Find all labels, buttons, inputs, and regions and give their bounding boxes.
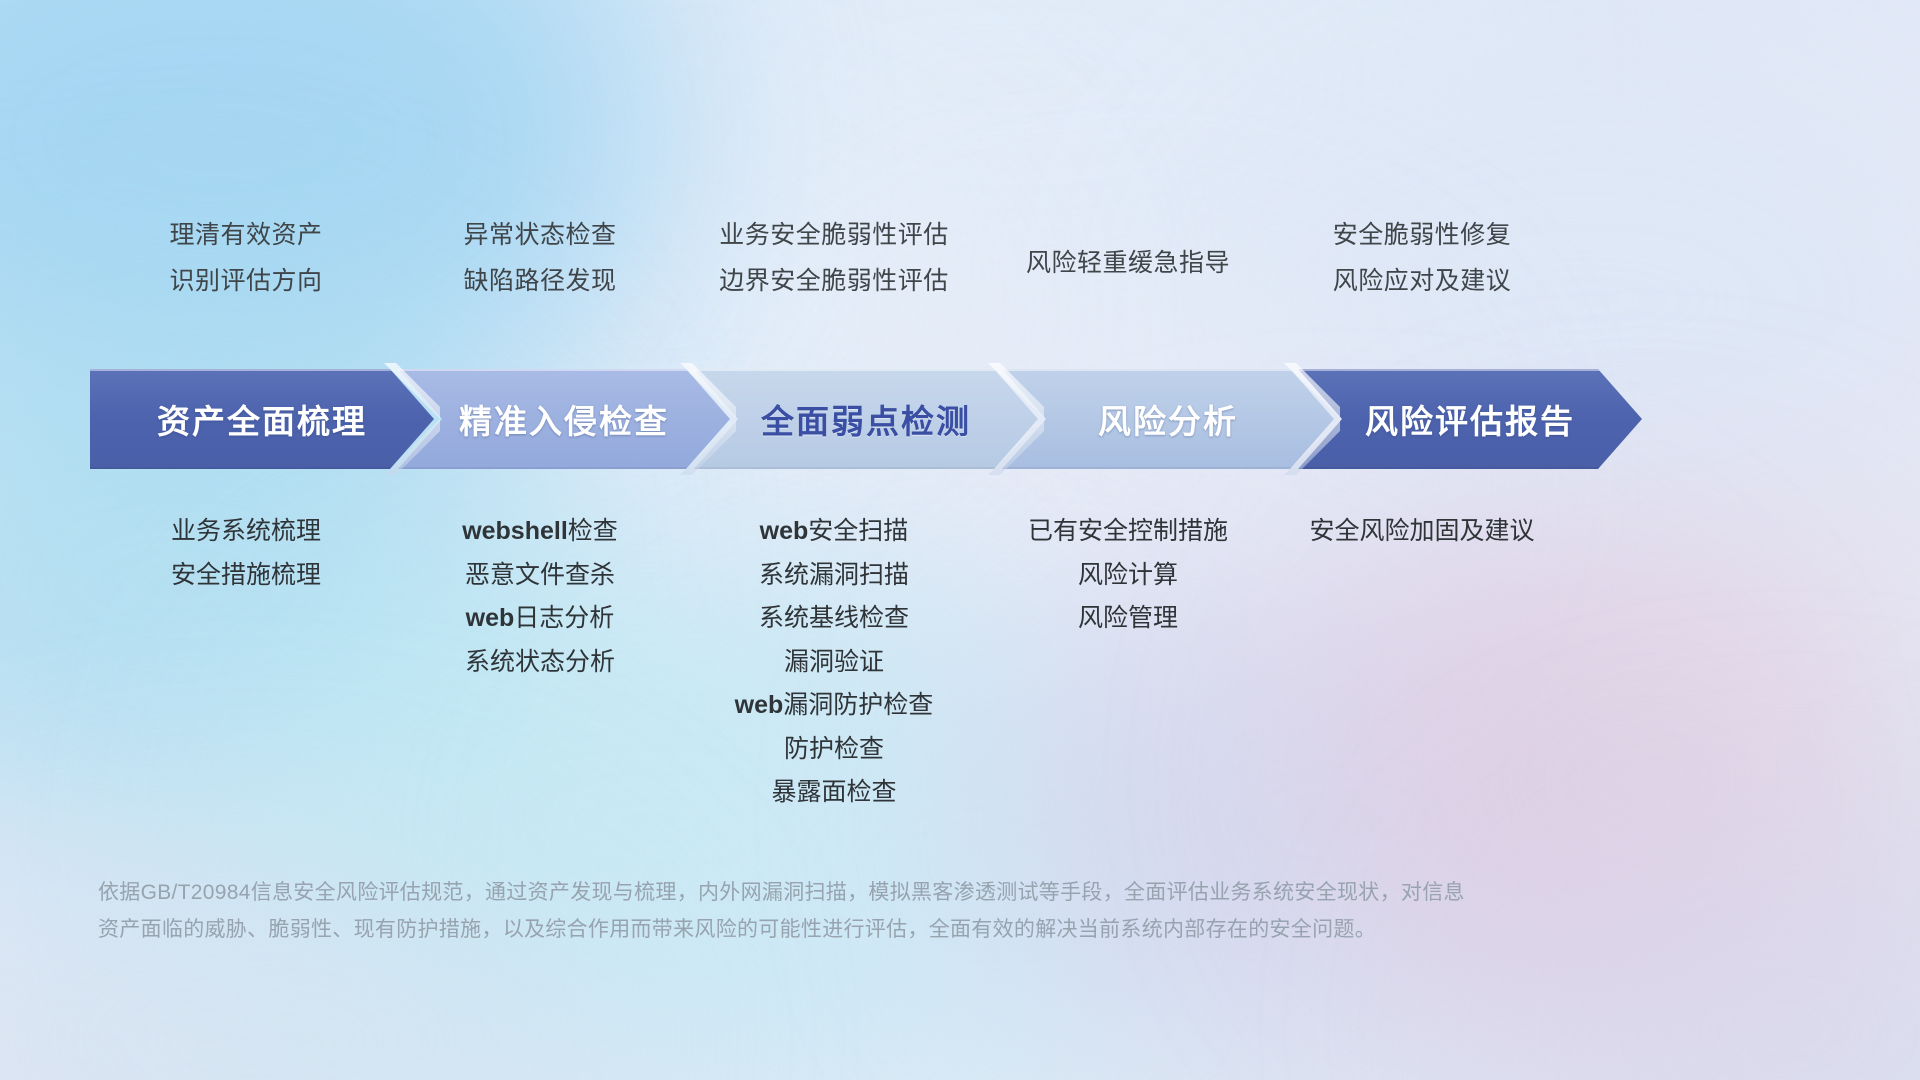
outcome-item: 异常状态检查 xyxy=(396,222,684,250)
tasks-row: 业务系统梳理安全措施梳理webshell检查恶意文件查杀web日志分析系统状态分… xyxy=(96,500,1856,807)
outcomes-col-intrusion-check: 异常状态检查缺陷路径发现 xyxy=(396,222,684,295)
footer-description: 依据GB/T20984信息安全风险评估规范，通过资产发现与梳理，内外网漏洞扫描，… xyxy=(98,875,1618,949)
outcomes-col-risk-analysis: 风险轻重缓急指导 xyxy=(984,222,1272,278)
chevron-title: 风险分析 xyxy=(1098,395,1238,443)
outcome-item: 识别评估方向 xyxy=(96,268,396,296)
task-item: web日志分析 xyxy=(396,605,684,633)
task-item: 暴露面检查 xyxy=(684,779,984,807)
chevron-risk-analysis[interactable]: 风险分析 xyxy=(1002,369,1334,469)
outcome-item: 理清有效资产 xyxy=(96,222,396,250)
outcomes-row: 理清有效资产识别评估方向异常状态检查缺陷路径发现业务安全脆弱性评估边界安全脆弱性… xyxy=(96,222,1856,295)
chevron-risk-report[interactable]: 风险评估报告 xyxy=(1298,369,1642,469)
outcome-item: 边界安全脆弱性评估 xyxy=(684,268,984,296)
tasks-col-risk-analysis: 已有安全控制措施风险计算风险管理 xyxy=(984,500,1272,633)
chevron-title: 风险评估报告 xyxy=(1365,395,1575,443)
task-item: 业务系统梳理 xyxy=(96,518,396,546)
chevron-title: 全面弱点检测 xyxy=(761,395,971,443)
task-item: 系统漏洞扫描 xyxy=(684,562,984,590)
task-item: 安全风险加固及建议 xyxy=(1272,518,1572,546)
task-item: 安全措施梳理 xyxy=(96,562,396,590)
outcome-item: 业务安全脆弱性评估 xyxy=(684,222,984,250)
task-item: 风险管理 xyxy=(984,605,1272,633)
task-item: 系统状态分析 xyxy=(396,649,684,677)
task-item: 恶意文件查杀 xyxy=(396,562,684,590)
task-item: 系统基线检查 xyxy=(684,605,984,633)
process-chevron-band: 资产全面梳理精准入侵检查全面弱点检测风险分析风险评估报告 xyxy=(90,369,1850,469)
task-item: 漏洞验证 xyxy=(684,649,984,677)
task-item: 防护检查 xyxy=(684,736,984,764)
task-item: web漏洞防护检查 xyxy=(684,692,984,720)
task-item: web安全扫描 xyxy=(684,518,984,546)
footer-line-2: 资产面临的威胁、脆弱性、现有防护措施，以及综合作用而带来风险的可能性进行评估，全… xyxy=(98,912,1618,949)
outcomes-col-weakness-detection: 业务安全脆弱性评估边界安全脆弱性评估 xyxy=(684,222,984,295)
footer-line-1: 依据GB/T20984信息安全风险评估规范，通过资产发现与梳理，内外网漏洞扫描，… xyxy=(98,875,1618,912)
chevron-weakness-detection[interactable]: 全面弱点检测 xyxy=(694,369,1038,469)
outcomes-col-asset-inventory: 理清有效资产识别评估方向 xyxy=(96,222,396,295)
task-item: 风险计算 xyxy=(984,562,1272,590)
outcome-item: 风险应对及建议 xyxy=(1272,268,1572,296)
risk-assessment-process-diagram: 理清有效资产识别评估方向异常状态检查缺陷路径发现业务安全脆弱性评估边界安全脆弱性… xyxy=(0,0,1920,1080)
chevron-intrusion-check[interactable]: 精准入侵检查 xyxy=(398,369,730,469)
tasks-col-intrusion-check: webshell检查恶意文件查杀web日志分析系统状态分析 xyxy=(396,500,684,676)
outcome-item: 风险轻重缓急指导 xyxy=(984,250,1272,278)
tasks-col-weakness-detection: web安全扫描系统漏洞扫描系统基线检查漏洞验证web漏洞防护检查防护检查暴露面检… xyxy=(684,500,984,807)
outcome-item: 缺陷路径发现 xyxy=(396,268,684,296)
task-item: webshell检查 xyxy=(396,518,684,546)
chevron-title: 资产全面梳理 xyxy=(157,395,367,443)
tasks-col-asset-inventory: 业务系统梳理安全措施梳理 xyxy=(96,500,396,589)
chevron-asset-inventory[interactable]: 资产全面梳理 xyxy=(90,369,434,469)
tasks-col-risk-report: 安全风险加固及建议 xyxy=(1272,500,1572,546)
chevron-title: 精准入侵检查 xyxy=(459,395,669,443)
outcomes-col-risk-report: 安全脆弱性修复风险应对及建议 xyxy=(1272,222,1572,295)
outcome-item: 安全脆弱性修复 xyxy=(1272,222,1572,250)
task-item: 已有安全控制措施 xyxy=(984,518,1272,546)
